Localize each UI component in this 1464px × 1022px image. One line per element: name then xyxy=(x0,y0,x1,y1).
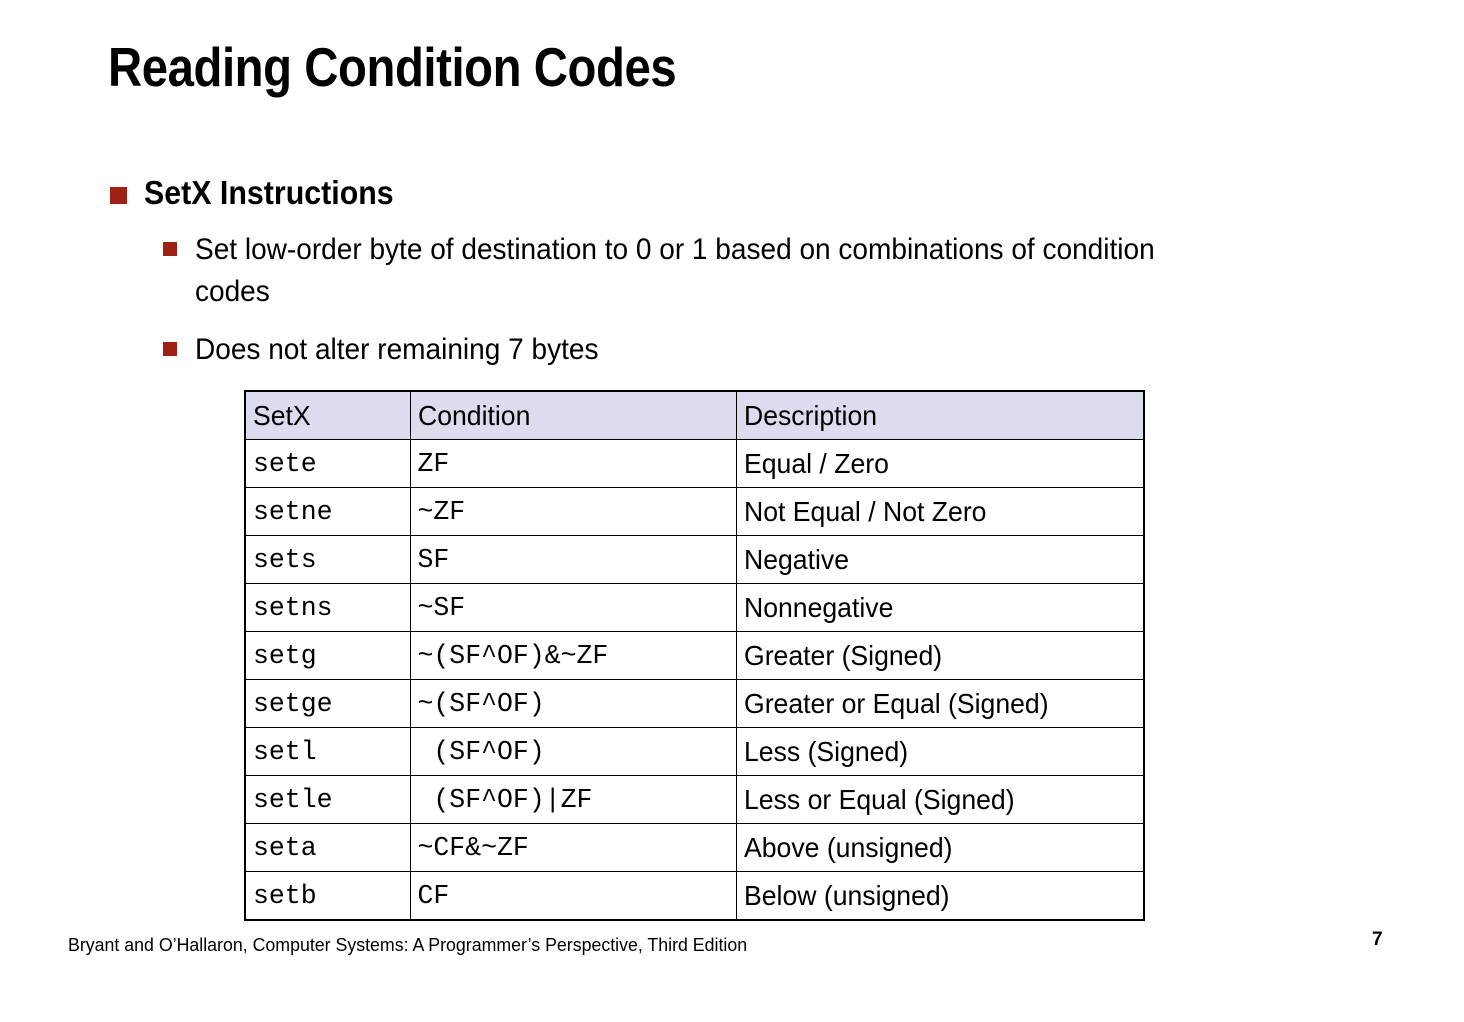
cell-condition: ~CF&~ZF xyxy=(410,824,736,872)
cell-description-label: Equal / Zero xyxy=(744,448,889,480)
cell-condition: ~(SF^OF) xyxy=(410,680,736,728)
cell-condition: (SF^OF) xyxy=(410,728,736,776)
table-header-row: SetX Condition Description xyxy=(245,391,1144,440)
cell-description: Below (unsigned) xyxy=(736,872,1144,921)
cell-setx: setg xyxy=(245,632,410,680)
square-bullet-icon xyxy=(163,342,177,356)
cell-condition: ZF xyxy=(410,440,736,488)
table-body: seteZFEqual / Zerosetne~ZFNot Equal / No… xyxy=(245,440,1144,921)
cell-setx: sets xyxy=(245,536,410,584)
cell-condition: (SF^OF)|ZF xyxy=(410,776,736,824)
cell-description-label: Not Equal / Not Zero xyxy=(744,496,986,528)
table-row: setsSFNegative xyxy=(245,536,1144,584)
table-row: setne~ZFNot Equal / Not Zero xyxy=(245,488,1144,536)
cell-description-label: Nonnegative xyxy=(744,592,893,624)
page-title: Reading Condition Codes xyxy=(108,36,676,99)
bullet-sub-label: Set low-order byte of destination to 0 o… xyxy=(195,229,1216,313)
cell-condition: SF xyxy=(410,536,736,584)
page-number: 7 xyxy=(1372,929,1383,951)
column-header-condition-label: Condition xyxy=(418,402,530,430)
cell-condition: ~(SF^OF)&~ZF xyxy=(410,632,736,680)
table-header: SetX Condition Description xyxy=(245,391,1144,440)
cell-setx: setle xyxy=(245,776,410,824)
cell-setx: setne xyxy=(245,488,410,536)
cell-setx: setl xyxy=(245,728,410,776)
table-row: setl (SF^OF)Less (Signed) xyxy=(245,728,1144,776)
cell-setx: setge xyxy=(245,680,410,728)
cell-description: Above (unsigned) xyxy=(736,824,1144,872)
column-header-description: Description xyxy=(736,391,1144,440)
table-row: seteZFEqual / Zero xyxy=(245,440,1144,488)
bullet-sub-label: Does not alter remaining 7 bytes xyxy=(195,329,1216,371)
column-header-description-label: Description xyxy=(744,402,877,430)
table-row: setns~SFNonnegative xyxy=(245,584,1144,632)
cell-condition: CF xyxy=(410,872,736,921)
cell-description: Greater or Equal (Signed) xyxy=(736,680,1144,728)
cell-description-label: Greater or Equal (Signed) xyxy=(744,688,1049,720)
cell-description-label: Negative xyxy=(744,544,849,576)
table-row: setg~(SF^OF)&~ZFGreater (Signed) xyxy=(245,632,1144,680)
cell-description-label: Above (unsigned) xyxy=(744,832,953,864)
cell-description: Not Equal / Not Zero xyxy=(736,488,1144,536)
table-row: setge~(SF^OF)Greater or Equal (Signed) xyxy=(245,680,1144,728)
square-bullet-icon xyxy=(110,187,127,204)
square-bullet-icon xyxy=(163,242,177,256)
table-row: setle (SF^OF)|ZFLess or Equal (Signed) xyxy=(245,776,1144,824)
cell-description-label: Below (unsigned) xyxy=(744,880,950,912)
bullet-main-label: SetX Instructions xyxy=(144,172,394,213)
cell-setx: sete xyxy=(245,440,410,488)
condition-codes-table-container: SetX Condition Description seteZFEqual /… xyxy=(244,390,1143,921)
cell-description-label: Less or Equal (Signed) xyxy=(744,784,1015,816)
bullet-sub-item: Set low-order byte of destination to 0 o… xyxy=(163,229,1270,313)
cell-setx: setns xyxy=(245,584,410,632)
cell-description: Less (Signed) xyxy=(736,728,1144,776)
column-header-setx: SetX xyxy=(245,391,410,440)
cell-description: Equal / Zero xyxy=(736,440,1144,488)
column-header-condition: Condition xyxy=(410,391,736,440)
cell-description: Nonnegative xyxy=(736,584,1144,632)
cell-description: Greater (Signed) xyxy=(736,632,1144,680)
cell-description: Negative xyxy=(736,536,1144,584)
cell-description: Less or Equal (Signed) xyxy=(736,776,1144,824)
condition-codes-table: SetX Condition Description seteZFEqual /… xyxy=(244,390,1145,921)
table-row: seta~CF&~ZFAbove (unsigned) xyxy=(245,824,1144,872)
cell-setx: setb xyxy=(245,872,410,921)
bullet-sub-item: Does not alter remaining 7 bytes xyxy=(163,329,1270,371)
cell-condition: ~ZF xyxy=(410,488,736,536)
cell-condition: ~SF xyxy=(410,584,736,632)
cell-setx: seta xyxy=(245,824,410,872)
cell-description-label: Less (Signed) xyxy=(744,736,908,768)
column-header-setx-label: SetX xyxy=(253,402,311,430)
cell-description-label: Greater (Signed) xyxy=(744,640,942,672)
footer-credit: Bryant and O’Hallaron, Computer Systems:… xyxy=(68,934,747,956)
table-row: setbCFBelow (unsigned) xyxy=(245,872,1144,921)
bullet-main: SetX Instructions xyxy=(110,172,415,213)
